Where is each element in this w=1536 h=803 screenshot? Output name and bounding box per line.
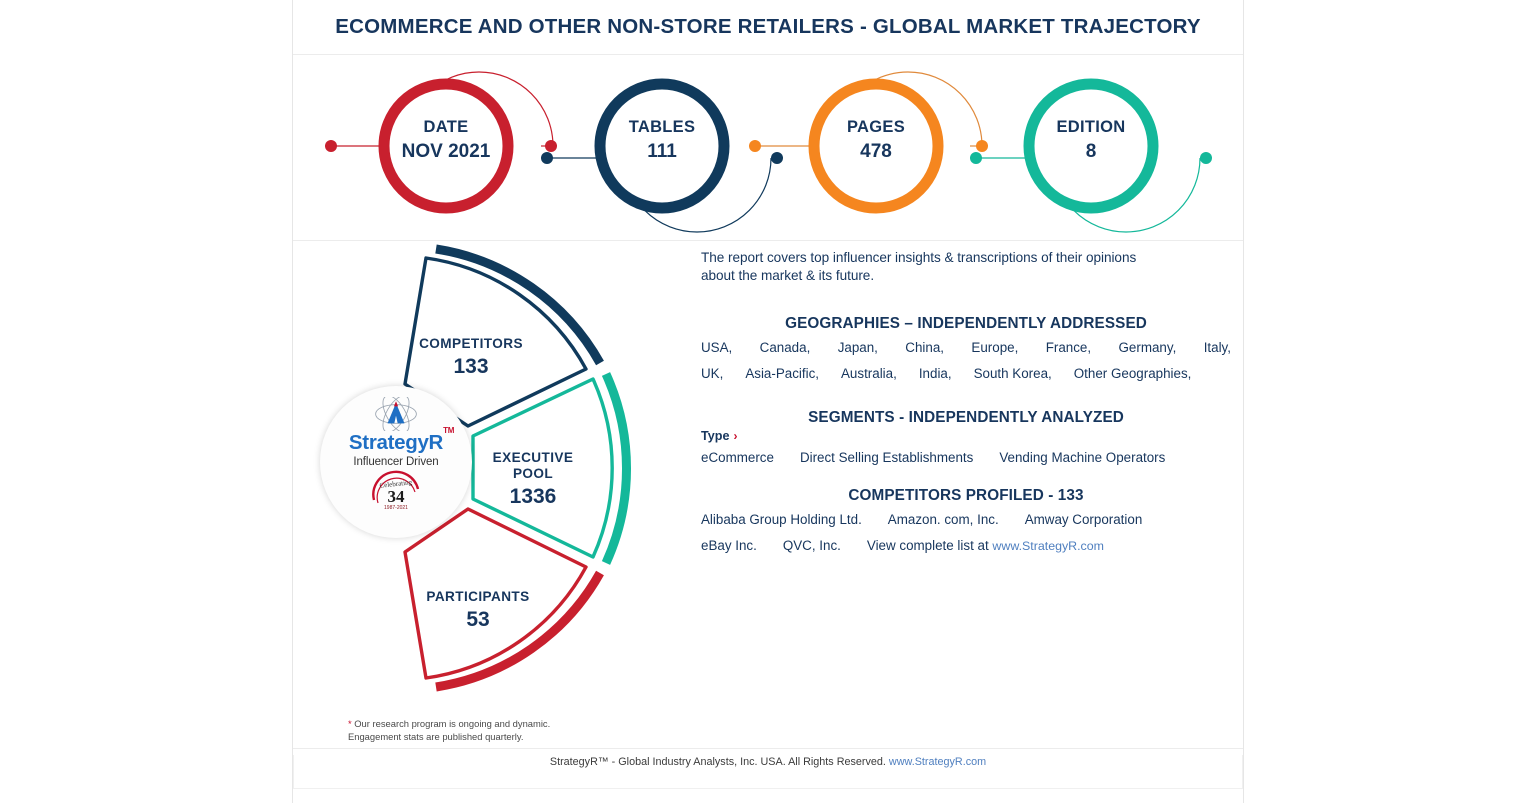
- competitor-item: Amazon. com, Inc.: [888, 507, 999, 533]
- page-title: ECOMMERCE AND OTHER NON-STORE RETAILERS …: [335, 15, 1201, 39]
- engagement-petal-diagram: COMPETITORS 133 EXECUTIVE POOL 1336 PART…: [303, 241, 663, 747]
- chevron-right-icon[interactable]: ›: [733, 430, 737, 442]
- segment-item: eCommerce: [701, 450, 774, 465]
- intro-paragraph: The report covers top influencer insight…: [701, 249, 1231, 285]
- geography-item: Europe,: [971, 335, 1018, 361]
- research-footnote: * Our research program is ongoing and dy…: [348, 718, 550, 743]
- view-complete-list: View complete list at www.StrategyR.com: [867, 533, 1104, 559]
- competitor-item: Alibaba Group Holding Ltd.: [701, 507, 862, 533]
- geography-item: Australia,: [841, 361, 897, 387]
- geography-item: UK,: [701, 361, 723, 387]
- logo-tm: TM: [443, 426, 454, 435]
- view-complete-list-text: View complete list at: [867, 538, 989, 553]
- geographies-heading: GEOGRAPHIES – INDEPENDENTLY ADDRESSED: [701, 315, 1231, 333]
- badge-tables-graphic: [541, 84, 783, 232]
- segment-type-label: Type: [701, 429, 729, 443]
- geography-item: Canada,: [760, 335, 811, 361]
- anniversary-badge: Celebrating 34 1987-2021: [368, 470, 424, 510]
- geography-item: USA,: [701, 335, 732, 361]
- competitor-item: eBay Inc.: [701, 533, 757, 559]
- copyright-text: StrategyR™ - Global Industry Analysts, I…: [550, 756, 986, 768]
- competitors-heading: COMPETITORS PROFILED - 133: [701, 487, 1231, 505]
- geography-item: India,: [919, 361, 952, 387]
- geography-item: Japan,: [838, 335, 878, 361]
- intro-line1: The report covers top influencer insight…: [701, 249, 1231, 267]
- badge-connectors-graphic: [293, 55, 1243, 241]
- badge-pages-graphic: [749, 72, 988, 208]
- strategyr-link[interactable]: www.StrategyR.com: [992, 539, 1104, 553]
- segment-item: Direct Selling Establishments: [800, 450, 973, 465]
- atom-logo-icon: [372, 397, 420, 431]
- strategyr-logo: StrategyR TM Influencer Driven Celebrati…: [320, 386, 472, 538]
- competitors-row-1: Alibaba Group Holding Ltd. Amazon. com, …: [701, 507, 1231, 533]
- footnote-line2: Engagement stats are published quarterly…: [348, 731, 550, 744]
- logo-word-text: StrategyR: [349, 431, 443, 454]
- segment-item: Vending Machine Operators: [999, 450, 1165, 465]
- geography-item: South Korea,: [974, 361, 1052, 387]
- geographies-row-2: UK, Asia-Pacific, Australia, India, Sout…: [701, 361, 1231, 387]
- logo-tagline: Influencer Driven: [353, 456, 438, 468]
- intro-line2: about the market & its future.: [701, 267, 1231, 285]
- svg-text:1987-2021: 1987-2021: [384, 505, 408, 510]
- geography-item: China,: [905, 335, 944, 361]
- geography-item: France,: [1046, 335, 1091, 361]
- competitor-item: Amway Corporation: [1025, 507, 1143, 533]
- report-details-column: The report covers top influencer insight…: [701, 249, 1231, 559]
- badge-edition-graphic: [970, 84, 1212, 232]
- anniversary-swirl-icon: Celebrating 34 1987-2021: [368, 470, 424, 510]
- geography-item: Other Geographies,: [1074, 361, 1192, 387]
- segment-type-row[interactable]: Type ›: [701, 429, 1231, 443]
- competitor-item: QVC, Inc.: [783, 533, 841, 559]
- badge-date-graphic: [325, 72, 557, 208]
- geography-item: Germany,: [1119, 335, 1177, 361]
- geography-item: Asia-Pacific,: [745, 361, 819, 387]
- footnote-line1: Our research program is ongoing and dyna…: [352, 718, 551, 729]
- competitors-row-2: eBay Inc. QVC, Inc. View complete list a…: [701, 533, 1231, 559]
- svg-text:34: 34: [388, 487, 406, 506]
- geographies-row-1: USA, Canada, Japan, China, Europe, Franc…: [701, 335, 1231, 361]
- segments-heading: SEGMENTS - INDEPENDENTLY ANALYZED: [701, 409, 1231, 427]
- badge-strip: DATE NOV 2021 TABLES 111 PAGES 478 EDITI…: [293, 55, 1243, 241]
- segment-items-row: eCommerce Direct Selling Establishments …: [701, 450, 1231, 465]
- geography-item: Italy,: [1204, 335, 1231, 361]
- copyright-label: StrategyR™ - Global Industry Analysts, I…: [550, 756, 886, 768]
- logo-wordmark: StrategyR TM: [349, 431, 443, 455]
- report-page: ECOMMERCE AND OTHER NON-STORE RETAILERS …: [292, 0, 1244, 803]
- body-area: COMPETITORS 133 EXECUTIVE POOL 1336 PART…: [293, 241, 1243, 747]
- footer-link[interactable]: www.StrategyR.com: [889, 756, 986, 768]
- page-footer: StrategyR™ - Global Industry Analysts, I…: [293, 748, 1243, 803]
- page-header: ECOMMERCE AND OTHER NON-STORE RETAILERS …: [293, 0, 1243, 55]
